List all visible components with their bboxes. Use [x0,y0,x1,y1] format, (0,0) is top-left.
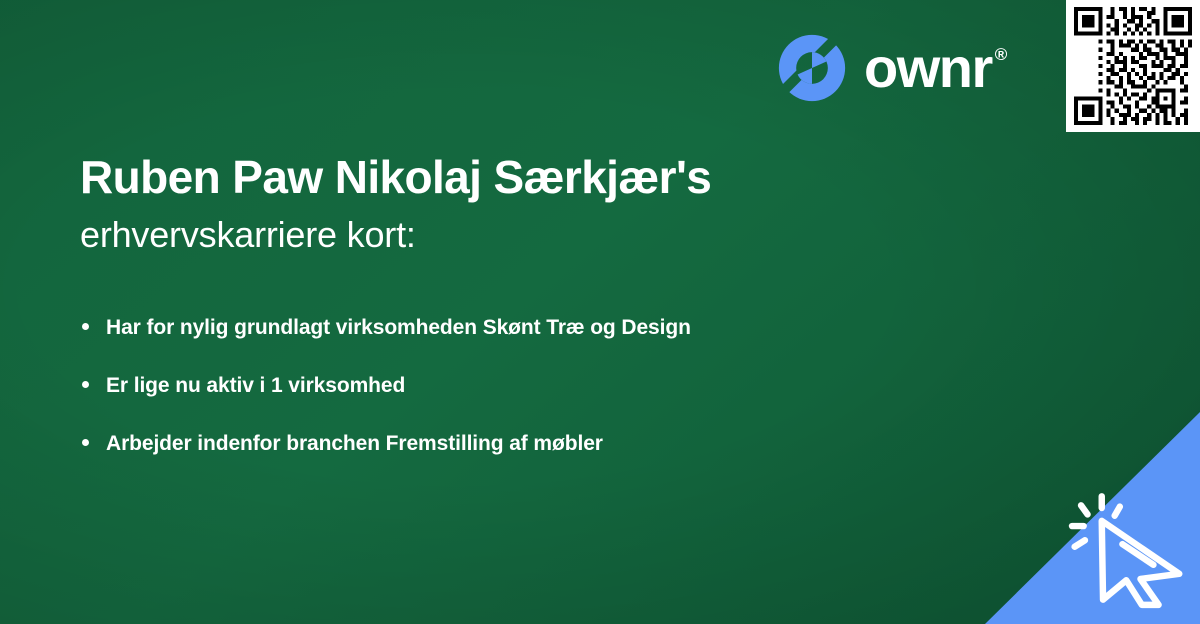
vignette-overlay [0,0,1200,624]
bullet-dot-icon [82,439,89,446]
title-line-subtitle: erhvervskarriere kort: [80,212,840,257]
ownr-logo[interactable]: ownr ® [776,32,1006,104]
list-item: Har for nylig grundlagt virksomheden Skø… [82,315,982,340]
ownr-swirl-circle-icon [776,32,848,104]
list-item-label: Har for nylig grundlagt virksomheden Skø… [106,316,691,339]
ownr-wordmark: ownr ® [864,40,1006,96]
qr-code-icon[interactable] [1074,7,1192,125]
business-card-graphic: ownr ® [0,0,1200,624]
qr-code-panel[interactable] [1066,0,1200,132]
career-facts-list: Har for nylig grundlagt virksomheden Skø… [82,315,982,457]
list-item: Er lige nu aktiv i 1 virksomhed [82,373,982,398]
title-line-name: Ruben Paw Nikolaj Særkjær's [80,152,840,204]
list-item: Arbejder indenfor branchen Fremstilling … [82,431,982,456]
click-cursor-icon [1060,486,1190,610]
list-item-label: Er lige nu aktiv i 1 virksomhed [106,374,405,397]
bullet-dot-icon [82,381,89,388]
page-title: Ruben Paw Nikolaj Særkjær's erhvervskarr… [80,152,840,257]
list-item-label: Arbejder indenfor branchen Fremstilling … [106,432,603,455]
bullet-dot-icon [82,323,89,330]
registered-trademark-symbol: ® [995,46,1006,63]
ownr-wordmark-text: ownr [864,40,992,96]
